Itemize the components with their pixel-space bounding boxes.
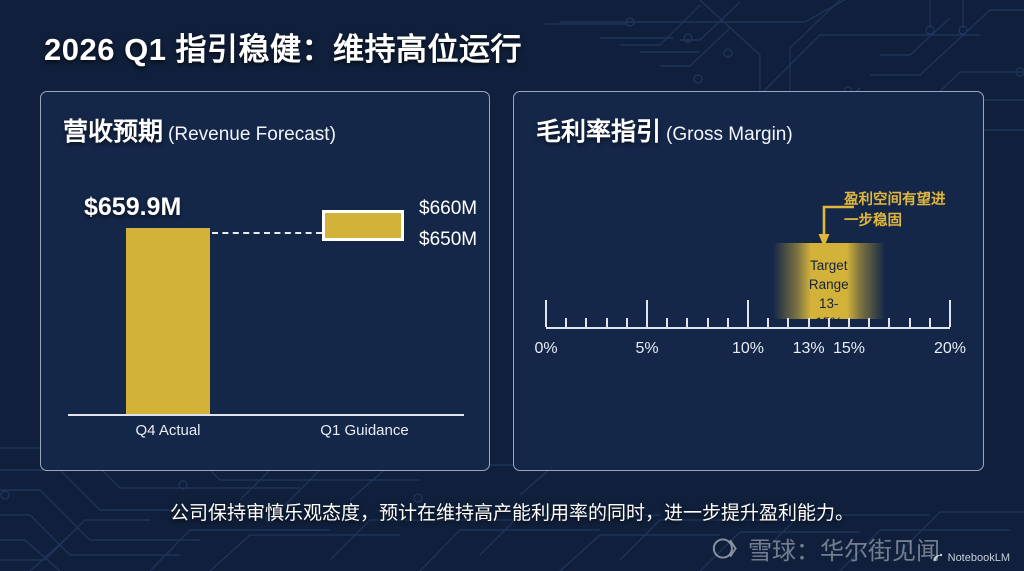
axis-tick-minor <box>828 318 830 327</box>
axis-tick-minor <box>929 318 931 327</box>
category-label-q1-guidance: Q1 Guidance <box>312 422 417 439</box>
margin-annotation-line1: 盈利空间有望进 <box>844 190 974 211</box>
page-title: 2026 Q1 指引稳健：维持高位运行 <box>44 24 522 69</box>
margin-annotation-line2: 一步稳固 <box>844 211 974 232</box>
panel-gross-margin: 毛利率指引(Gross Margin) <box>513 91 984 471</box>
guidance-high-label: $660M <box>419 198 477 220</box>
axis-label-13pct: 13% <box>793 340 825 358</box>
panel-left-title-en: (Revenue Forecast) <box>168 124 336 145</box>
target-range-line1: Target <box>809 256 849 275</box>
axis-label-10pct: 10% <box>732 340 764 358</box>
axis-tick-minor <box>848 318 850 327</box>
notebooklm-icon <box>932 552 944 564</box>
axis-tick-minor <box>808 318 810 327</box>
bar-value-label: $659.9M <box>84 193 181 222</box>
axis-tick-minor <box>888 318 890 327</box>
axis-tick-minor <box>585 318 587 327</box>
margin-annotation-text: 盈利空间有望进 一步稳固 <box>844 190 974 232</box>
axis-tick-major <box>545 300 547 327</box>
notebooklm-brand: NotebookLM <box>932 552 1010 564</box>
axis-tick-minor <box>868 318 870 327</box>
axis-tick-minor <box>707 318 709 327</box>
panel-right-title-cn: 毛利率指引 <box>536 118 661 146</box>
dashed-connector-line <box>212 232 322 234</box>
axis-tick-major <box>747 300 749 327</box>
axis-tick-minor <box>626 318 628 327</box>
bar-q4-actual <box>126 228 210 414</box>
axis-label-20pct: 20% <box>934 340 966 358</box>
axis-label-15pct: 15% <box>833 340 865 358</box>
notebooklm-label: NotebookLM <box>948 552 1010 564</box>
axis-tick-minor <box>686 318 688 327</box>
axis-tick-minor <box>606 318 608 327</box>
axis-label-0pct: 0% <box>534 340 557 358</box>
axis-label-5pct: 5% <box>635 340 658 358</box>
axis-tick-major <box>646 300 648 327</box>
panel-right-header: 毛利率指引(Gross Margin) <box>536 112 793 148</box>
axis-tick-minor <box>767 318 769 327</box>
xueqiu-logo-icon <box>712 534 741 563</box>
axis-tick-major <box>949 300 951 327</box>
target-range-line2: Range <box>809 275 849 294</box>
axis-tick-minor <box>909 318 911 327</box>
watermark-text: 雪球：华尔街见闻 <box>748 531 940 566</box>
watermark: 雪球：华尔街见闻 <box>712 531 940 566</box>
axis-tick-minor <box>787 318 789 327</box>
axis-tick-minor <box>666 318 668 327</box>
category-label-q4-actual: Q4 Actual <box>118 422 218 439</box>
panel-right-title-en: (Gross Margin) <box>666 124 793 145</box>
right-chart-axis-line <box>546 327 950 329</box>
panel-left-header: 营收预期(Revenue Forecast) <box>63 112 336 148</box>
left-chart-baseline <box>68 414 464 416</box>
panel-left-title-cn: 营收预期 <box>63 118 163 146</box>
footer-summary-text: 公司保持审慎乐观态度，预计在维持高产能利用率的同时，进一步提升盈利能力。 <box>0 498 1024 525</box>
slide-root: 2026 Q1 指引稳健：维持高位运行 营收预期(Revenue Forecas… <box>0 0 1024 571</box>
guidance-low-label: $650M <box>419 229 477 251</box>
axis-tick-minor <box>565 318 567 327</box>
guidance-range-box <box>322 210 404 241</box>
axis-tick-minor <box>727 318 729 327</box>
